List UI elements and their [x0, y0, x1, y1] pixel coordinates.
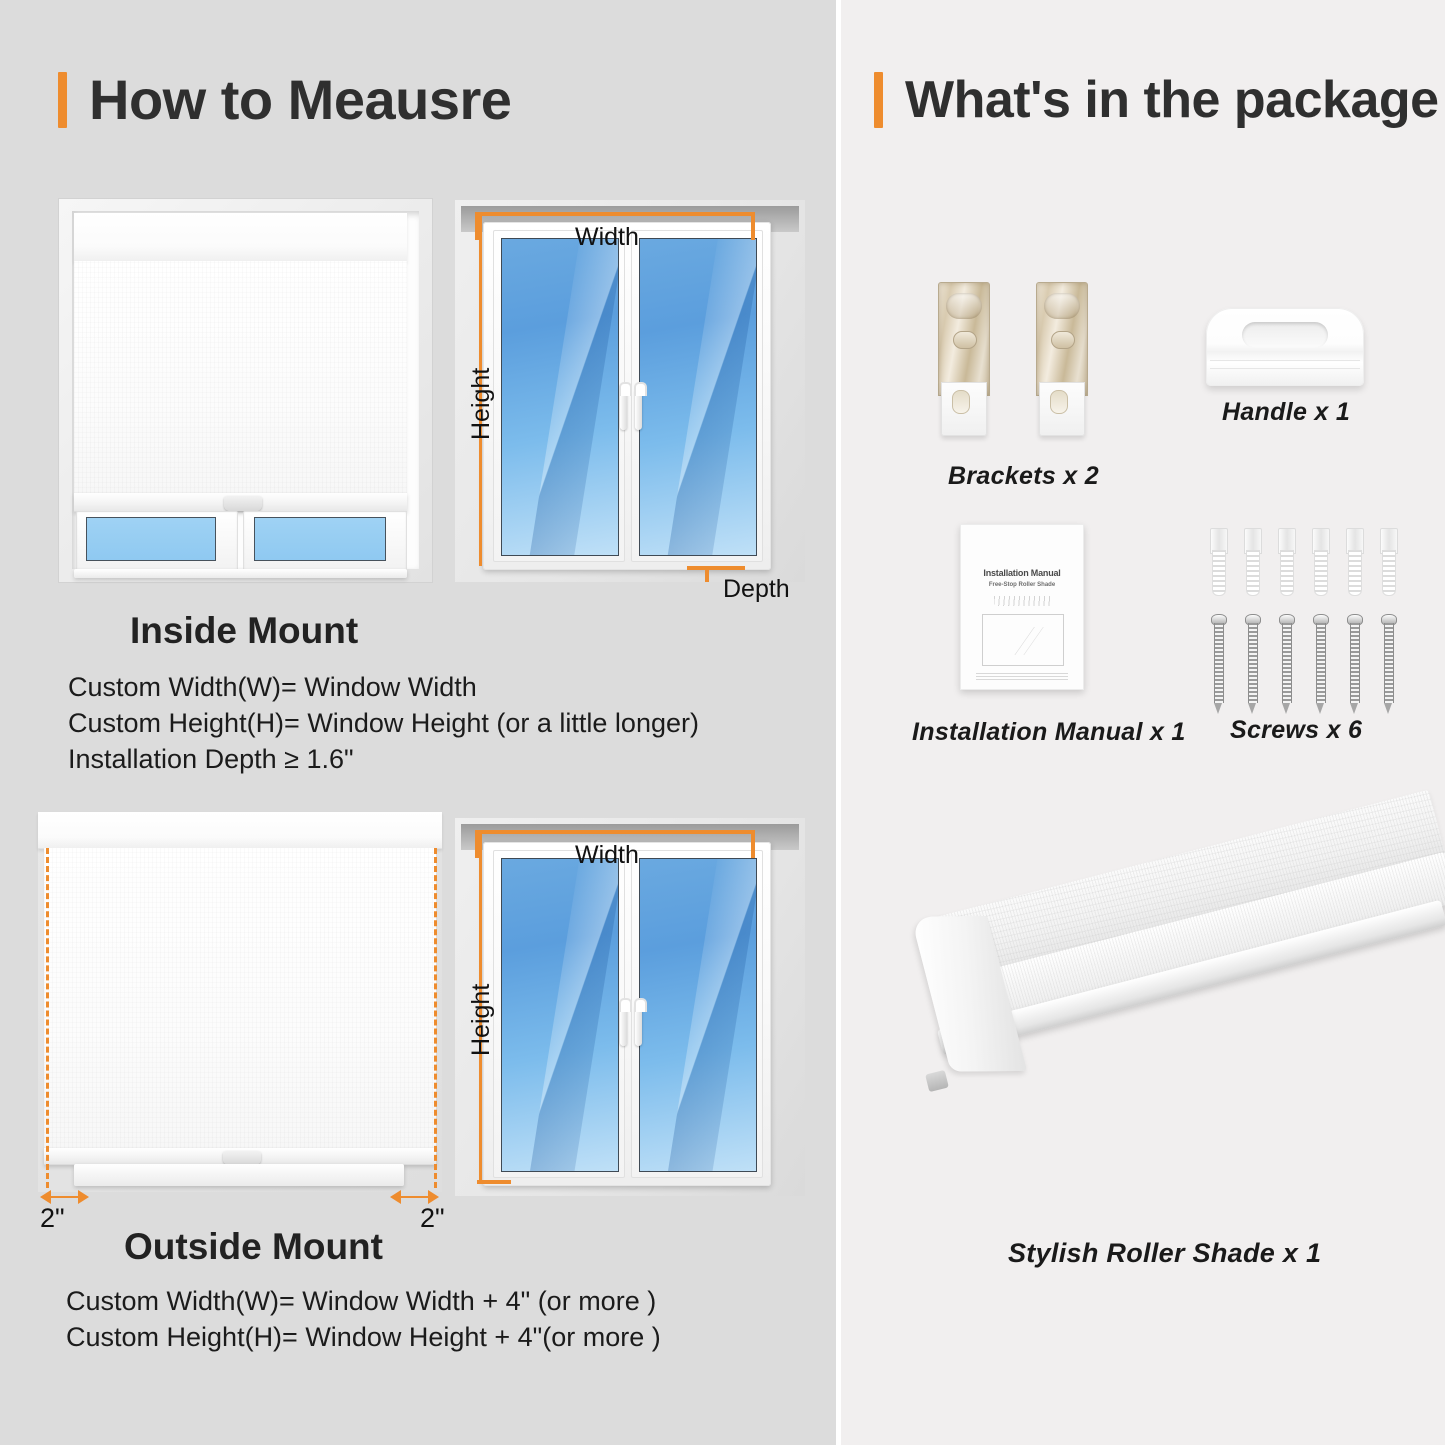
window-glass-right: [639, 238, 757, 556]
height-base-line: [477, 1180, 511, 1184]
screw-3: [1279, 614, 1293, 714]
outside-mount-shade-illustration: [38, 812, 442, 1192]
outside-spec-height: Custom Height(H)= Window Height + 4"(or …: [66, 1322, 661, 1353]
wall-anchor-2: [1244, 528, 1260, 594]
overhang-guide-left: [46, 848, 49, 1188]
shade-pull-tab: [223, 1151, 261, 1165]
how-to-measure-heading: How to Meausre: [58, 72, 511, 128]
handle-ridge: [1210, 360, 1360, 361]
depth-tick: [705, 566, 709, 582]
anchor-body: [1382, 550, 1396, 596]
window-handle-right: [635, 388, 642, 430]
manual-cover-illustration: [982, 614, 1064, 666]
screw-tip: [1350, 703, 1358, 714]
inside-mount-shade-illustration: [58, 198, 433, 583]
manual-cover-footer-lines: [976, 672, 1068, 680]
width-label: Width: [575, 841, 639, 870]
overhang-arrow-right-tail: [428, 1190, 439, 1204]
glass-reflection: [525, 858, 619, 1172]
anchor-body: [1212, 550, 1226, 596]
bracket-metal-body: [1036, 282, 1088, 396]
wall-anchor-4: [1312, 528, 1328, 594]
width-measure-line: [477, 830, 755, 834]
width-label: Width: [575, 223, 639, 252]
package-title: What's in the package: [905, 74, 1439, 126]
manual-cover-title: Installation Manual: [968, 568, 1076, 578]
screw-shaft: [1282, 623, 1292, 703]
inside-spec-depth: Installation Depth ≥ 1.6": [68, 744, 354, 775]
glass-reflection: [663, 238, 757, 556]
window-glass-right: [639, 858, 757, 1172]
shade-fabric: [44, 848, 436, 1148]
overhang-arrow-right-head: [390, 1190, 401, 1204]
package-heading: What's in the package: [874, 72, 1439, 128]
screw-shaft: [1316, 623, 1326, 703]
screw-tip: [1282, 703, 1290, 714]
anchor-body: [1314, 550, 1328, 596]
inside-spec-width: Custom Width(W)= Window Width: [68, 672, 477, 703]
screw-1: [1211, 614, 1225, 714]
shade-valance: [74, 213, 407, 262]
roller-shade-label: Stylish Roller Shade x 1: [1008, 1238, 1321, 1269]
height-label: Height: [467, 984, 496, 1056]
overhang-guide-right: [434, 848, 437, 1188]
screw-tip: [1214, 703, 1222, 714]
width-tick-right: [751, 212, 755, 240]
accent-bar-icon: [874, 72, 883, 128]
shade-fabric: [74, 261, 407, 493]
screw-4: [1313, 614, 1327, 714]
screw-tip: [1248, 703, 1256, 714]
screw-shaft: [1214, 623, 1224, 703]
screw-shaft: [1248, 623, 1258, 703]
window-glass-right: [254, 517, 386, 561]
brackets-label: Brackets x 2: [948, 462, 1099, 491]
overhang-label-right: 2": [420, 1203, 445, 1234]
window-glass-left: [86, 517, 216, 561]
bracket-item-2: [1036, 282, 1086, 442]
inside-mount-measure-diagram: Width Height Depth: [455, 200, 805, 582]
screw-shaft: [1350, 623, 1360, 703]
screw-shaft: [1384, 623, 1394, 703]
handle-label: Handle x 1: [1222, 398, 1350, 427]
installation-manual-booklet: Installation Manual Free-Stop Roller Sha…: [960, 524, 1084, 690]
handle-part: [1206, 308, 1364, 386]
window-glass-left: [501, 858, 619, 1172]
window-sill: [74, 569, 407, 578]
depth-label: Depth: [723, 575, 790, 604]
how-to-measure-title: How to Meausre: [89, 72, 511, 128]
bracket-slot: [952, 390, 970, 414]
wall-anchor-1: [1210, 528, 1226, 594]
window-handle-right: [635, 1004, 642, 1046]
bracket-metal-body: [938, 282, 990, 396]
overhang-arrow-left-tail: [78, 1190, 89, 1204]
inside-mount-title: Inside Mount: [130, 610, 358, 652]
window-handle-left: [620, 388, 627, 430]
anchor-body: [1348, 550, 1362, 596]
outside-mount-measure-diagram: Width Height: [455, 818, 805, 1196]
shade-pull-tab: [224, 496, 262, 511]
roller-shade-product: [905, 880, 1435, 1210]
screw-tip: [1384, 703, 1392, 714]
accent-bar-icon: [58, 72, 67, 128]
screw-6: [1381, 614, 1395, 714]
wall-anchor-3: [1278, 528, 1294, 594]
window-handle-left: [620, 1004, 627, 1046]
inside-spec-height: Custom Height(H)= Window Height (or a li…: [68, 708, 699, 739]
width-measure-line: [477, 212, 755, 216]
wall-anchor-6: [1380, 528, 1396, 594]
shade-valance: [38, 812, 442, 849]
handle-grip-hole: [1242, 322, 1328, 348]
wall-anchor-5: [1346, 528, 1362, 594]
height-label: Height: [467, 368, 496, 440]
manual-cover-text-lines: [994, 596, 1050, 606]
handle-ridge: [1210, 368, 1360, 369]
bracket-item-1: [938, 282, 988, 442]
glass-reflection: [663, 858, 757, 1172]
infographic-page: How to Meausre Width: [0, 0, 1445, 1445]
outside-mount-title: Outside Mount: [124, 1226, 383, 1268]
outside-spec-width: Custom Width(W)= Window Width + 4" (or m…: [66, 1286, 656, 1317]
anchor-body: [1246, 550, 1260, 596]
width-tick-right: [751, 830, 755, 858]
installation-manual-label: Installation Manual x 1: [912, 718, 1186, 747]
manual-cover-subtitle: Free-Stop Roller Shade: [968, 582, 1076, 588]
overhang-label-left: 2": [40, 1203, 65, 1234]
overhang-arrow-left-head: [40, 1190, 51, 1204]
bracket-slot: [1050, 390, 1068, 414]
screw-5: [1347, 614, 1361, 714]
roller-shade-end-clip: [925, 1070, 949, 1092]
screw-2: [1245, 614, 1259, 714]
anchor-body: [1280, 550, 1294, 596]
window-sill: [74, 1164, 404, 1186]
window-glass-left: [501, 238, 619, 556]
depth-measure-line: [687, 566, 745, 570]
screws-label: Screws x 6: [1230, 716, 1362, 745]
glass-reflection: [525, 238, 619, 556]
screw-tip: [1316, 703, 1324, 714]
